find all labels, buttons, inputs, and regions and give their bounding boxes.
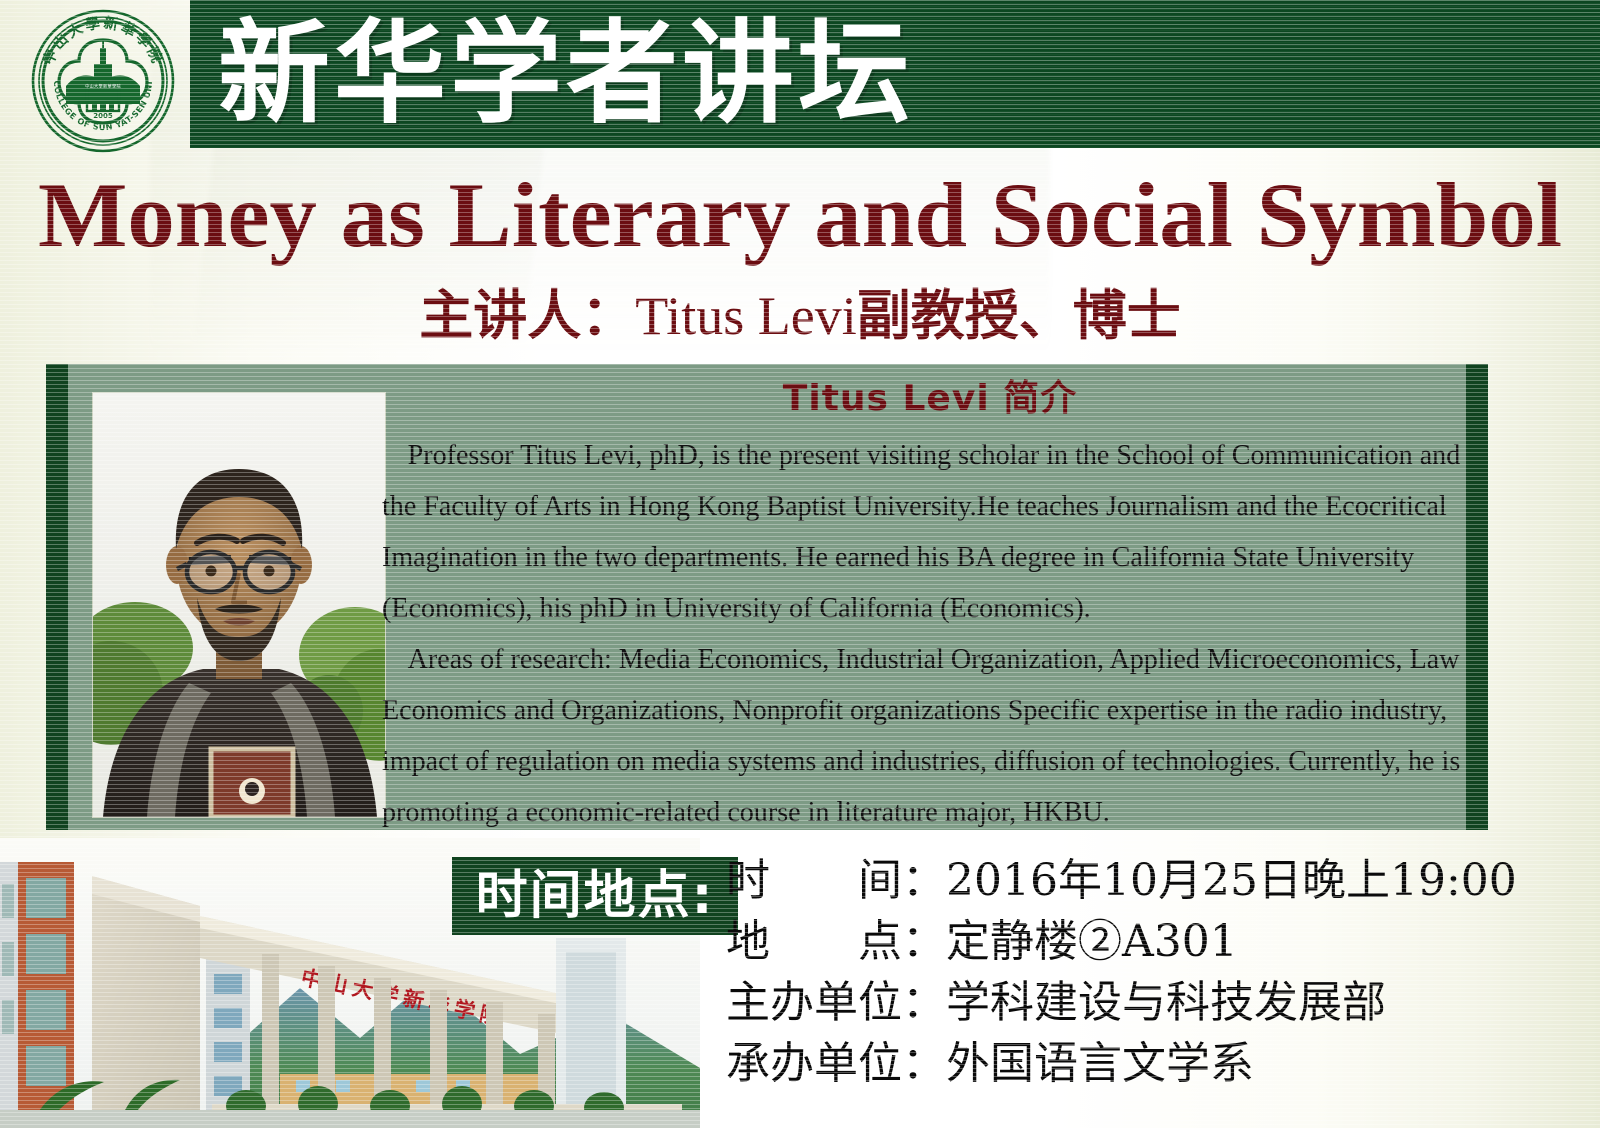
speaker-suffix: 副教授、博士 xyxy=(857,283,1181,347)
university-seal-icon: 中山大學新華學院 XINHUA COLLEGE OF SUN YAT-SEN U… xyxy=(30,8,176,154)
header-bar: 新华学者讲坛 xyxy=(190,0,1600,148)
bio-heading: Titus Levi 简介 xyxy=(390,376,1470,422)
bio-paragraph-2: Areas of research: Media Economics, Indu… xyxy=(382,634,1469,838)
time-place-label-text: 时间地点: xyxy=(476,868,715,924)
info-value-time: 2016年10月25日晚上19:00 xyxy=(946,855,1517,906)
time-place-label: 时间地点: xyxy=(452,857,738,935)
info-rows: 时 间：2016年10月25日晚上19:00 地 点：定静楼②A301 主办单位… xyxy=(726,850,1546,1094)
info-row-organizer: 主办单位：学科建设与科技发展部 xyxy=(726,972,1546,1033)
info-key-organizer: 主办单位： xyxy=(726,972,946,1033)
speaker-portrait-image xyxy=(93,393,385,817)
info-row-host: 承办单位：外国语言文学系 xyxy=(726,1033,1546,1094)
speaker-photo xyxy=(92,392,386,818)
speaker-prefix: 主讲人： xyxy=(419,283,635,347)
info-row-time: 时 间：2016年10月25日晚上19:00 xyxy=(726,850,1546,911)
info-key-place: 地 点： xyxy=(726,911,946,972)
seal-year: 2005 xyxy=(93,112,113,120)
speaker-name: Titus Levi xyxy=(635,286,857,346)
poster-root: 新华学者讲坛 中山大學新華學院 XINHUA COLLEGE OF SUN YA… xyxy=(0,0,1600,1128)
info-value-host: 外国语言文学系 xyxy=(946,1038,1254,1089)
logo-wrap: 中山大學新華學院 XINHUA COLLEGE OF SUN YAT-SEN U… xyxy=(22,6,182,154)
bio-paragraph-1: Professor Titus Levi, phD, is the presen… xyxy=(382,430,1469,634)
bio-body: Professor Titus Levi, phD, is the presen… xyxy=(382,430,1469,838)
page-title: Money as Literary and Social Symbol xyxy=(0,155,1600,275)
info-value-place: 定静楼②A301 xyxy=(946,916,1238,967)
info-key-time: 时 间： xyxy=(726,850,946,911)
info-value-organizer: 学科建设与科技发展部 xyxy=(946,977,1386,1028)
header-title: 新华学者讲坛 xyxy=(218,4,914,144)
info-row-place: 地 点：定静楼②A301 xyxy=(726,911,1546,972)
seal-inner-text: 中山大學新華學院 xyxy=(85,83,121,90)
info-key-host: 承办单位： xyxy=(726,1033,946,1094)
speaker-line: 主讲人：Titus Levi副教授、博士 xyxy=(0,282,1600,349)
